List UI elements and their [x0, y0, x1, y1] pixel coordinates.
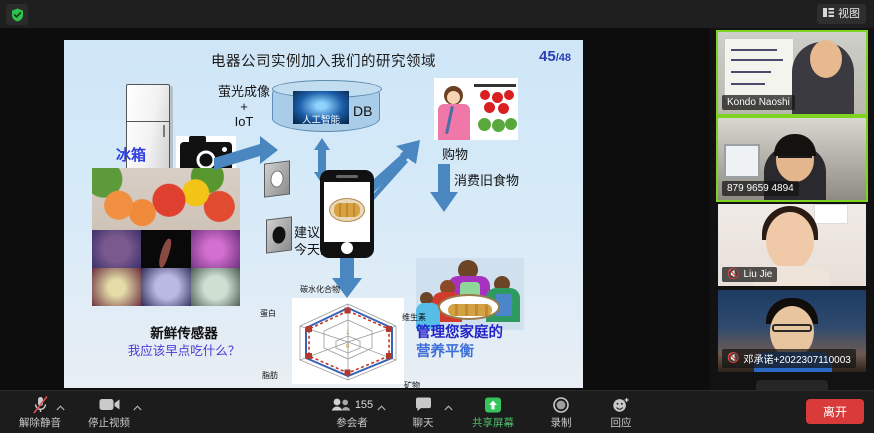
share-screen-label: 共享屏幕	[472, 415, 514, 430]
encryption-shield-icon[interactable]	[6, 4, 28, 25]
participant-label: Liu Jie	[743, 269, 772, 280]
mute-label: 解除静音	[19, 415, 61, 430]
label-ai: 人工智能	[293, 112, 349, 126]
label-fresh-sensor: 新鲜传感器	[104, 322, 264, 342]
top-bar: 视图	[0, 0, 874, 28]
label-manage-nutrition: 管理您家庭的 营养平衡	[416, 324, 503, 362]
participants-label: 参会者	[336, 415, 368, 430]
smartphone-illustration	[320, 170, 374, 258]
database-cylinder: 人工智能 DB	[272, 80, 380, 132]
vegetables-photo	[92, 168, 240, 230]
label-manage-line2: 营养平衡	[416, 343, 503, 362]
emoji-plus-icon	[612, 396, 630, 413]
participant-name: 🔇 邓承诺+2022307110003	[722, 349, 856, 368]
radar-label-mineral: 矿物	[404, 380, 420, 388]
record-button[interactable]: 录制	[538, 394, 584, 432]
video-options-caret[interactable]	[133, 403, 142, 413]
meeting-toolbar: 解除静音 停止视频	[0, 390, 874, 433]
radar-label-fat: 脂肪	[262, 370, 278, 381]
video-button[interactable]: 停止视频	[80, 394, 138, 432]
view-label: 视图	[838, 4, 860, 24]
family-meal-photo	[416, 258, 524, 330]
label-fridge: 冰箱	[116, 144, 146, 165]
mute-icon: 🔇	[727, 353, 739, 364]
mute-options-caret[interactable]	[56, 403, 65, 413]
chat-label: 聊天	[413, 415, 434, 430]
record-label: 录制	[551, 415, 572, 430]
svg-text:0: 0	[346, 344, 350, 350]
leave-button[interactable]: 离开	[806, 399, 864, 424]
microphone-muted-icon	[33, 396, 48, 413]
video-tile[interactable]: 879 9659 4894	[718, 118, 866, 200]
camera-icon	[99, 396, 120, 413]
svg-text:1: 1	[346, 330, 350, 336]
label-manage-line1: 管理您家庭的	[416, 324, 503, 343]
participant-label: Kondo Naoshi	[727, 97, 790, 108]
share-screen-button[interactable]: 共享屏幕	[462, 394, 524, 432]
sensor-box-icon-1	[264, 160, 290, 197]
sensor-box-icon-2	[266, 216, 292, 253]
reactions-button[interactable]: 回应	[598, 394, 644, 432]
radar-label-protein: 蛋白	[260, 308, 276, 319]
nutrition-radar-chart: 1 0	[292, 298, 404, 384]
slide-page-number: 45/48	[539, 48, 571, 65]
participant-label: 邓承诺+2022307110003	[743, 351, 850, 366]
label-shopping: 购物	[442, 144, 468, 163]
label-fresh-question: 我应该早点吃什么？	[92, 340, 276, 359]
slide-title: 电器公司实例加入我们的研究领域	[64, 50, 583, 71]
radar-label-vitamin: 维生素	[402, 312, 426, 323]
share-screen-icon	[482, 396, 504, 413]
mute-button[interactable]: 解除静音	[12, 394, 68, 432]
chat-bubble-icon	[415, 396, 432, 413]
mute-icon: 🔇	[727, 269, 739, 280]
chat-options-caret[interactable]	[444, 403, 453, 413]
video-label: 停止视频	[88, 415, 130, 430]
participants-icon-group: 155	[331, 396, 373, 413]
radar-label-carbohydrate: 碳水化合物	[300, 284, 340, 295]
participants-options-caret[interactable]	[377, 403, 386, 413]
zoom-meeting-window: 视图 电器公司实例加入我们的研究领域 45/48 冰箱 萤光成像 + IoT	[0, 0, 874, 433]
label-consume-old-food: 消费旧食物	[454, 170, 519, 189]
record-circle-icon	[553, 396, 569, 413]
video-thumbnail-strip: Kondo Naoshi 879 9659 4894 🔇 Liu Jie	[710, 28, 874, 390]
label-db: DB	[353, 103, 372, 119]
participant-name: 🔇 Liu Jie	[722, 267, 777, 282]
fluorescence-image-grid	[92, 230, 240, 306]
participants-button[interactable]: 155 参会者	[322, 394, 382, 432]
chat-button[interactable]: 聊天	[402, 394, 444, 432]
participants-count: 155	[355, 399, 373, 411]
leave-label: 离开	[823, 403, 847, 420]
video-tile[interactable]: 🔇 Liu Jie	[718, 204, 866, 286]
participant-name: 879 9659 4894	[722, 181, 799, 196]
participant-label: 879 9659 4894	[727, 183, 794, 194]
participant-name: Kondo Naoshi	[722, 95, 795, 110]
layout-icon	[823, 4, 834, 24]
shopping-photo	[434, 78, 518, 140]
reactions-label: 回应	[611, 415, 632, 430]
video-tile[interactable]: 🔇 邓承诺+2022307110003	[718, 290, 866, 372]
presentation-slide: 电器公司实例加入我们的研究领域 45/48 冰箱 萤光成像 + IoT	[64, 40, 583, 388]
people-icon	[331, 398, 351, 411]
view-button[interactable]: 视图	[817, 4, 866, 24]
video-tile[interactable]: Kondo Naoshi	[718, 32, 866, 114]
shared-screen-stage[interactable]: 电器公司实例加入我们的研究领域 45/48 冰箱 萤光成像 + IoT	[0, 28, 710, 390]
